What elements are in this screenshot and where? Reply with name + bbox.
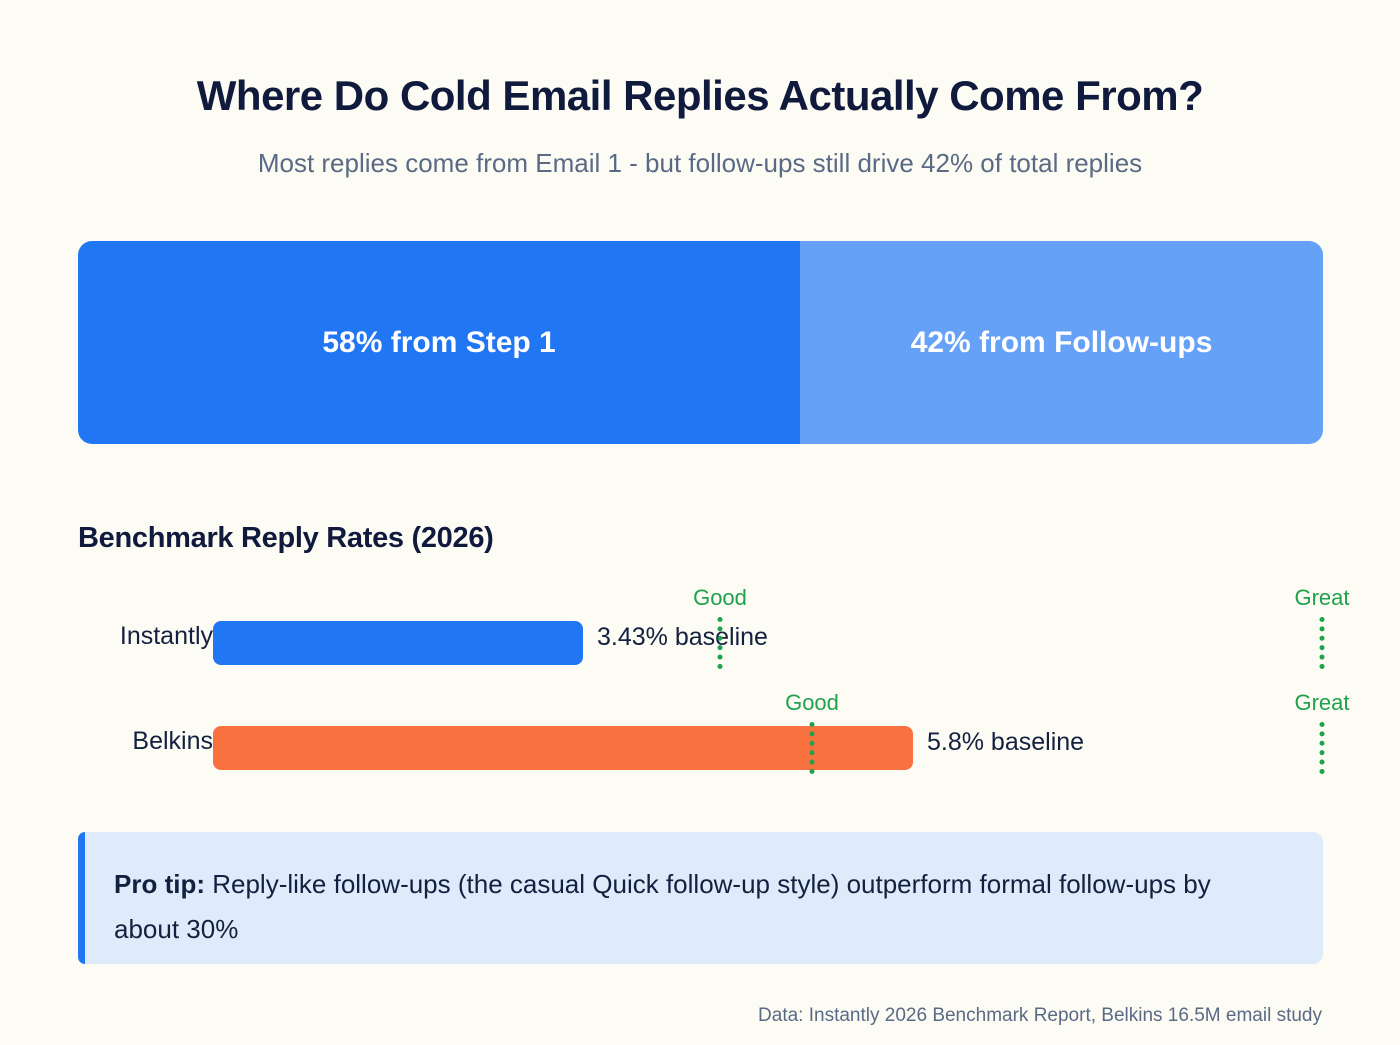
split-segment-step1: 58% from Step 1 <box>78 241 800 444</box>
pro-tip-text: Pro tip: Reply-like follow-ups (the casu… <box>114 862 1274 952</box>
bench-row-label-belkins: Belkins <box>132 727 213 756</box>
pro-tip-prefix: Pro tip: <box>114 869 205 899</box>
split-segment-followups-label: 42% from Follow-ups <box>911 326 1213 360</box>
bench-bar-instantly <box>213 621 583 665</box>
benchmark-marker-great-line <box>1320 617 1325 669</box>
benchmark-chart: Instantly 3.43% baseline Good Great Belk… <box>0 585 1400 800</box>
pro-tip-callout: Pro tip: Reply-like follow-ups (the casu… <box>78 832 1323 964</box>
benchmark-marker-great-label: Great <box>1294 690 1349 716</box>
benchmark-marker-good-line <box>810 722 815 774</box>
bench-value-belkins: 5.8% baseline <box>927 728 1084 757</box>
benchmark-marker-great-line <box>1320 722 1325 774</box>
benchmark-marker-good-label: Good <box>785 690 839 716</box>
table-row: Belkins 5.8% baseline Good Great <box>0 690 1400 795</box>
benchmark-marker-good-label: Good <box>693 585 747 611</box>
benchmark-marker-good: Good <box>680 585 760 690</box>
data-source-note: Data: Instantly 2026 Benchmark Report, B… <box>758 1005 1322 1027</box>
benchmark-marker-great: Great <box>1282 585 1362 690</box>
table-row: Instantly 3.43% baseline Good Great <box>0 585 1400 690</box>
split-segment-step1-label: 58% from Step 1 <box>322 326 555 360</box>
reply-source-split-bar: 58% from Step 1 42% from Follow-ups <box>78 241 1323 444</box>
infographic-canvas: Where Do Cold Email Replies Actually Com… <box>0 0 1400 1045</box>
benchmark-marker-good-line <box>718 617 723 669</box>
benchmark-marker-great: Great <box>1282 690 1362 795</box>
page-title: Where Do Cold Email Replies Actually Com… <box>0 72 1400 120</box>
benchmark-marker-great-label: Great <box>1294 585 1349 611</box>
benchmark-marker-good: Good <box>772 690 852 795</box>
benchmark-section-title: Benchmark Reply Rates (2026) <box>78 522 494 555</box>
bench-row-label-instantly: Instantly <box>120 622 213 651</box>
page-subtitle: Most replies come from Email 1 - but fol… <box>0 148 1400 179</box>
pro-tip-accent-bar <box>78 832 85 964</box>
pro-tip-body: Reply-like follow-ups (the casual Quick … <box>114 869 1211 944</box>
split-segment-followups: 42% from Follow-ups <box>800 241 1323 444</box>
